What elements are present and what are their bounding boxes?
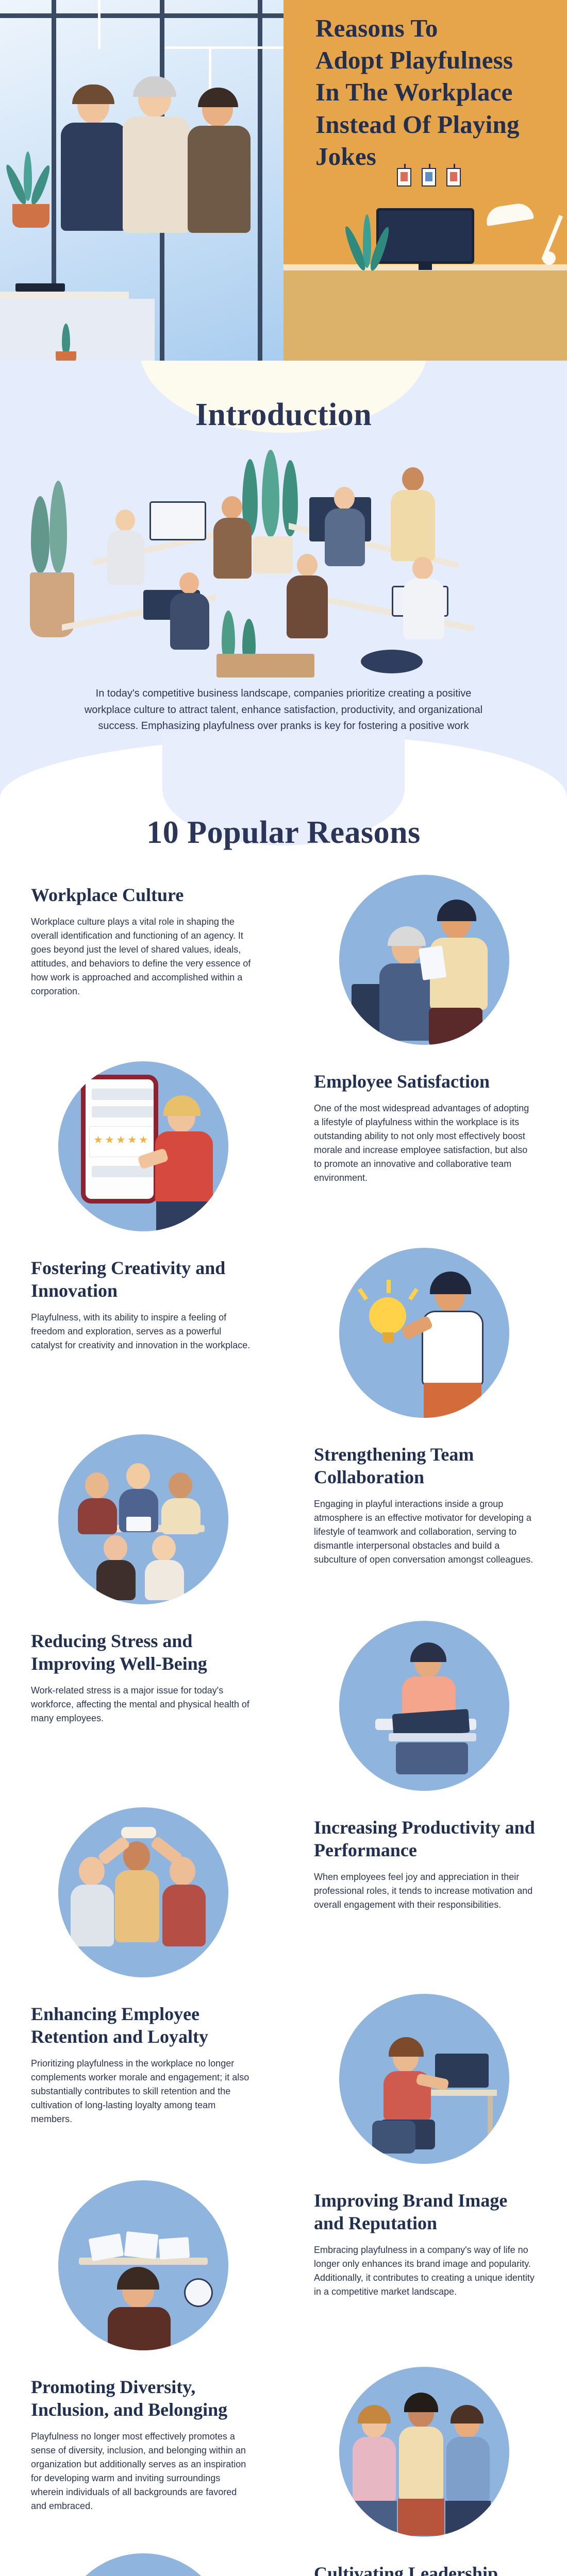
document-icon xyxy=(418,945,446,980)
reason-title: Workplace Culture xyxy=(31,884,253,907)
laptop-base xyxy=(389,1733,476,1741)
plant-leaf xyxy=(363,214,371,268)
person-body xyxy=(170,593,209,650)
reasons-heading-wrap: 10 Popular Reasons xyxy=(0,797,567,854)
reason-item: Promoting Diversity, Inclusion, and Belo… xyxy=(0,2355,567,2542)
person-body xyxy=(325,509,365,566)
lightbulb-icon xyxy=(369,1297,406,1334)
reason-item: Workplace Culture Workplace culture play… xyxy=(0,863,567,1050)
introduction-heading: Introduction xyxy=(0,397,567,433)
reason-illustration xyxy=(339,1248,509,1418)
person-head xyxy=(334,487,355,510)
monitor-stand xyxy=(419,262,432,270)
reason-title: Reducing Stress and Improving Well-Being xyxy=(31,1630,253,1675)
page-title-line: Jokes xyxy=(315,141,558,173)
person-body xyxy=(71,1885,114,1946)
floor xyxy=(0,299,155,361)
page-title: Reasons To Adopt Playfulness In The Work… xyxy=(315,12,558,173)
infographic-page: Reasons To Adopt Playfulness In The Work… xyxy=(0,0,567,2576)
sticky-note-icon xyxy=(422,168,436,187)
plant-leaf xyxy=(31,496,49,573)
rating-card: ★ ★ ★ ★ ★ xyxy=(90,1127,158,1157)
star-icon: ★ xyxy=(127,1135,137,1145)
reason-item: Cultivating Leadership Skills and Develo… xyxy=(0,2542,567,2576)
reason-illustration: ★ ★ ★ ★ ★ xyxy=(58,1061,228,1231)
reason-body: When employees feel joy and appreciation… xyxy=(314,1870,536,1912)
reason-title: Employee Satisfaction xyxy=(314,1071,536,1093)
person-body xyxy=(162,1885,206,1946)
reason-item: Employee Satisfaction One of the most wi… xyxy=(0,1050,567,1236)
person-head xyxy=(126,1463,150,1489)
person-hair xyxy=(358,2405,391,2424)
window-mullion xyxy=(258,0,262,361)
side-table xyxy=(361,650,423,673)
introduction-section: Introduction xyxy=(0,361,567,797)
person-body xyxy=(446,2437,490,2502)
person-body xyxy=(391,490,435,561)
introduction-illustration xyxy=(0,439,567,682)
person-body xyxy=(399,2427,443,2501)
person-head xyxy=(222,496,242,519)
star-icon: ★ xyxy=(116,1135,125,1145)
reason-title: Increasing Productivity and Performance xyxy=(314,1817,536,1862)
person-head xyxy=(412,557,433,580)
person-legs xyxy=(156,1201,211,1231)
sticky-note-icon xyxy=(397,168,411,187)
lightbulb-base xyxy=(382,1332,394,1343)
reason-illustration xyxy=(339,1621,509,1791)
monitor-icon xyxy=(376,208,474,264)
person-head xyxy=(402,467,424,491)
plant-pot xyxy=(56,351,76,361)
review-row xyxy=(92,1106,156,1117)
person-body xyxy=(123,116,190,233)
review-row xyxy=(92,1089,156,1100)
reasons-heading: 10 Popular Reasons xyxy=(0,815,567,851)
reason-title: Improving Brand Image and Reputation xyxy=(314,2190,536,2235)
desk-surface xyxy=(0,292,129,299)
person-body xyxy=(78,1498,117,1534)
reason-item: Enhancing Employee Retention and Loyalty… xyxy=(0,1982,567,2169)
window-mullion xyxy=(165,46,283,49)
window-mullion xyxy=(98,0,101,49)
person-hair xyxy=(117,2267,159,2290)
person-head xyxy=(152,1535,176,1561)
reason-body: Workplace culture plays a vital role in … xyxy=(31,915,253,998)
person-body xyxy=(145,1560,184,1600)
light-ray xyxy=(357,1288,368,1300)
sticky-note-icon xyxy=(446,168,461,187)
clock-icon xyxy=(184,2278,213,2307)
person-hair xyxy=(430,1272,471,1294)
document-icon xyxy=(126,1517,151,1531)
laptop xyxy=(15,283,65,292)
reason-title: Cultivating Leadership Skills and Develo… xyxy=(314,2563,536,2576)
person-hair xyxy=(404,2393,438,2412)
desk xyxy=(283,268,567,361)
reason-illustration xyxy=(58,2553,228,2576)
star-icon: ★ xyxy=(139,1135,148,1145)
person-head xyxy=(85,1472,109,1498)
document-icon xyxy=(88,2233,124,2261)
reason-body: Embracing playfulness in a company's way… xyxy=(314,2243,536,2299)
person-head xyxy=(179,572,199,594)
person-head xyxy=(297,554,318,577)
page-title-line: Adopt Playfulness xyxy=(315,44,558,76)
reason-title: Enhancing Employee Retention and Loyalty xyxy=(31,2003,253,2048)
light-ray xyxy=(408,1288,418,1300)
person-head xyxy=(104,1535,127,1561)
person-body xyxy=(61,123,127,231)
reason-body: Playfulness no longer most effectively p… xyxy=(31,2430,253,2513)
reason-title: Promoting Diversity, Inclusion, and Belo… xyxy=(31,2376,253,2421)
desk-lamp-joint xyxy=(542,251,556,265)
reason-body: Playfulness, with its ability to inspire… xyxy=(31,1311,253,1352)
plant-pot xyxy=(253,536,293,573)
plant-leaf xyxy=(49,481,67,573)
plant-leaf xyxy=(262,450,279,537)
page-title-line: Reasons To xyxy=(315,12,558,44)
reason-illustration xyxy=(339,875,509,1045)
person-body xyxy=(155,1131,213,1205)
page-title-line: Instead Of Playing xyxy=(315,109,558,141)
monitor-icon xyxy=(149,501,206,540)
office-chair xyxy=(372,2121,415,2154)
person-body xyxy=(108,2307,171,2350)
reason-illustration xyxy=(339,1994,509,2164)
reason-title: Fostering Creativity and Innovation xyxy=(31,1257,253,1302)
person-body xyxy=(188,126,251,233)
person-body xyxy=(161,1498,201,1534)
window-mullion xyxy=(0,13,283,18)
person-legs xyxy=(424,1383,481,1418)
reason-illustration xyxy=(58,1434,228,1604)
person-body xyxy=(115,1870,159,1942)
person-hair xyxy=(451,2405,483,2424)
person-body xyxy=(403,579,444,639)
person-body xyxy=(213,518,252,579)
person-legs xyxy=(429,1008,482,1045)
hero-title-panel: Reasons To Adopt Playfulness In The Work… xyxy=(283,0,567,361)
hero-banner: Reasons To Adopt Playfulness In The Work… xyxy=(0,0,567,361)
reason-illustration xyxy=(58,2180,228,2350)
desk-lamp-icon xyxy=(485,201,534,226)
reason-title: Strengthening Team Collaboration xyxy=(314,1444,536,1489)
person-hair xyxy=(389,2037,424,2057)
reason-body: One of the most widespread advantages of… xyxy=(314,1101,536,1185)
reason-item: Reducing Stress and Improving Well-Being… xyxy=(0,1609,567,1796)
person-legs xyxy=(396,1742,468,1774)
highfive-burst xyxy=(121,1827,156,1838)
person-head xyxy=(169,1472,192,1498)
person-hair xyxy=(388,926,426,946)
person-body xyxy=(96,1560,136,1600)
reason-item: Increasing Productivity and Performance … xyxy=(0,1796,567,1982)
page-title-line: In The Workplace xyxy=(315,76,558,108)
reason-body: Prioritizing playfulness in the workplac… xyxy=(31,2057,253,2126)
light-ray xyxy=(387,1280,391,1293)
star-icon: ★ xyxy=(94,1135,103,1145)
smartphone-icon: ★ ★ ★ ★ ★ xyxy=(81,1075,158,1204)
person-legs xyxy=(445,2501,491,2535)
person-body xyxy=(287,575,328,638)
person-body xyxy=(107,530,144,585)
person-hair xyxy=(163,1095,201,1116)
person-head xyxy=(115,510,135,531)
person-hair xyxy=(437,900,476,921)
hero-illustration-office-window xyxy=(0,0,283,361)
person-head xyxy=(79,1857,105,1886)
reason-item: Strengthening Team Collaboration Engagin… xyxy=(0,1423,567,1609)
person-body xyxy=(353,2437,396,2502)
plant-pot xyxy=(12,204,49,228)
person-hair xyxy=(410,1642,446,1662)
person-arm xyxy=(149,1836,183,1866)
reason-item: Improving Brand Image and Reputation Emb… xyxy=(0,2169,567,2355)
planter-box xyxy=(216,654,314,677)
reasons-list: Workplace Culture Workplace culture play… xyxy=(0,854,567,2576)
document-icon xyxy=(124,2231,158,2259)
document-icon xyxy=(158,2237,190,2260)
desk-leg xyxy=(488,2096,493,2145)
reason-illustration xyxy=(58,1807,228,1977)
person-legs xyxy=(352,2501,397,2535)
reason-illustration xyxy=(339,2367,509,2537)
reason-item: Fostering Creativity and Innovation Play… xyxy=(0,1236,567,1423)
person-legs xyxy=(398,2499,444,2536)
star-rating: ★ ★ ★ ★ ★ xyxy=(90,1127,158,1145)
reason-body: Engaging in playful interactions inside … xyxy=(314,1497,536,1567)
star-icon: ★ xyxy=(105,1135,114,1145)
reason-body: Work-related stress is a major issue for… xyxy=(31,1684,253,1725)
